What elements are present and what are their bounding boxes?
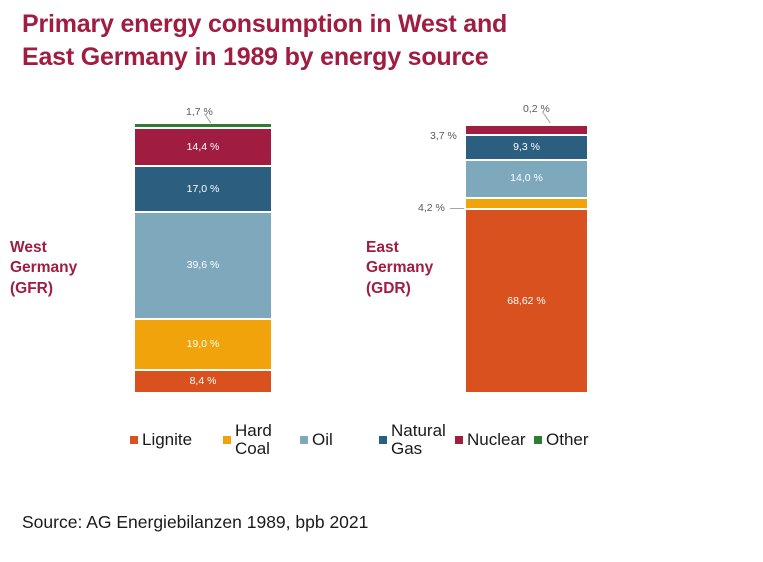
bar-segment-west-lignite[interactable]: 8,4 % <box>134 370 272 393</box>
data-label-east-nuclear: 3,7 % <box>430 131 457 142</box>
bar-segment-west-oil[interactable]: 39,6 % <box>134 212 272 319</box>
legend-swatch-lignite-icon <box>130 436 138 444</box>
legend-item-nuclear[interactable]: Nuclear <box>455 431 526 449</box>
bar-segment-west-natural-gas[interactable]: 17,0 % <box>134 166 272 212</box>
legend-item-oil[interactable]: Oil <box>300 431 333 449</box>
data-label-west-nuclear: 14,4 % <box>187 142 220 153</box>
data-label-west-hard-coal: 19,0 % <box>187 339 220 350</box>
bar-segment-east-oil[interactable]: 14,0 % <box>465 160 588 198</box>
legend-item-lignite[interactable]: Lignite <box>130 431 192 449</box>
bar-segment-east-hard-coal[interactable] <box>465 198 588 209</box>
stacked-bar-west[interactable]: 14,4 % 17,0 % 39,6 % 19,0 % 8,4 % <box>134 123 272 393</box>
category-label-west: West Germany (GFR) <box>10 238 125 299</box>
bar-segment-east-natural-gas[interactable]: 9,3 % <box>465 135 588 160</box>
data-label-west-oil: 39,6 % <box>187 260 220 271</box>
data-label-east-other: 0,2 % <box>523 104 550 115</box>
slide-canvas: Primary energy consumption in West and E… <box>0 0 763 562</box>
data-label-east-lignite: 68,62 % <box>507 296 546 307</box>
legend-label-nuclear: Nuclear <box>467 431 526 449</box>
data-label-west-natural-gas: 17,0 % <box>187 184 220 195</box>
stacked-bar-east[interactable]: 9,3 % 14,0 % 68,62 % <box>465 123 588 393</box>
data-label-east-hard-coal: 4,2 % <box>418 203 445 214</box>
bar-segment-east-lignite[interactable]: 68,62 % <box>465 209 588 393</box>
legend-item-natural-gas[interactable]: Natural Gas <box>379 422 446 459</box>
legend-label-hard-coal: Hard Coal <box>235 422 272 459</box>
legend-swatch-other-icon <box>534 436 542 444</box>
legend-label-lignite: Lignite <box>142 431 192 449</box>
data-label-west-other: 1,7 % <box>186 107 213 118</box>
legend-label-natural-gas: Natural Gas <box>391 422 446 459</box>
leader-line-east-hard-coal <box>450 208 464 209</box>
bar-segment-east-nuclear[interactable] <box>465 125 588 135</box>
chart-legend: Lignite Hard Coal Oil Natural Gas Nuclea… <box>130 412 630 468</box>
data-label-east-oil: 14,0 % <box>510 173 543 184</box>
legend-swatch-nuclear-icon <box>455 436 463 444</box>
bar-segment-west-hard-coal[interactable]: 19,0 % <box>134 319 272 370</box>
data-label-west-lignite: 8,4 % <box>190 376 217 387</box>
legend-swatch-oil-icon <box>300 436 308 444</box>
legend-swatch-natural-gas-icon <box>379 436 387 444</box>
legend-item-other[interactable]: Other <box>534 431 589 449</box>
source-note: Source: AG Energiebilanzen 1989, bpb 202… <box>22 512 368 533</box>
legend-item-hard-coal[interactable]: Hard Coal <box>223 422 272 459</box>
legend-label-other: Other <box>546 431 589 449</box>
data-label-east-natural-gas: 9,3 % <box>513 142 540 153</box>
bar-segment-west-nuclear[interactable]: 14,4 % <box>134 128 272 167</box>
legend-swatch-hard-coal-icon <box>223 436 231 444</box>
legend-label-oil: Oil <box>312 431 333 449</box>
